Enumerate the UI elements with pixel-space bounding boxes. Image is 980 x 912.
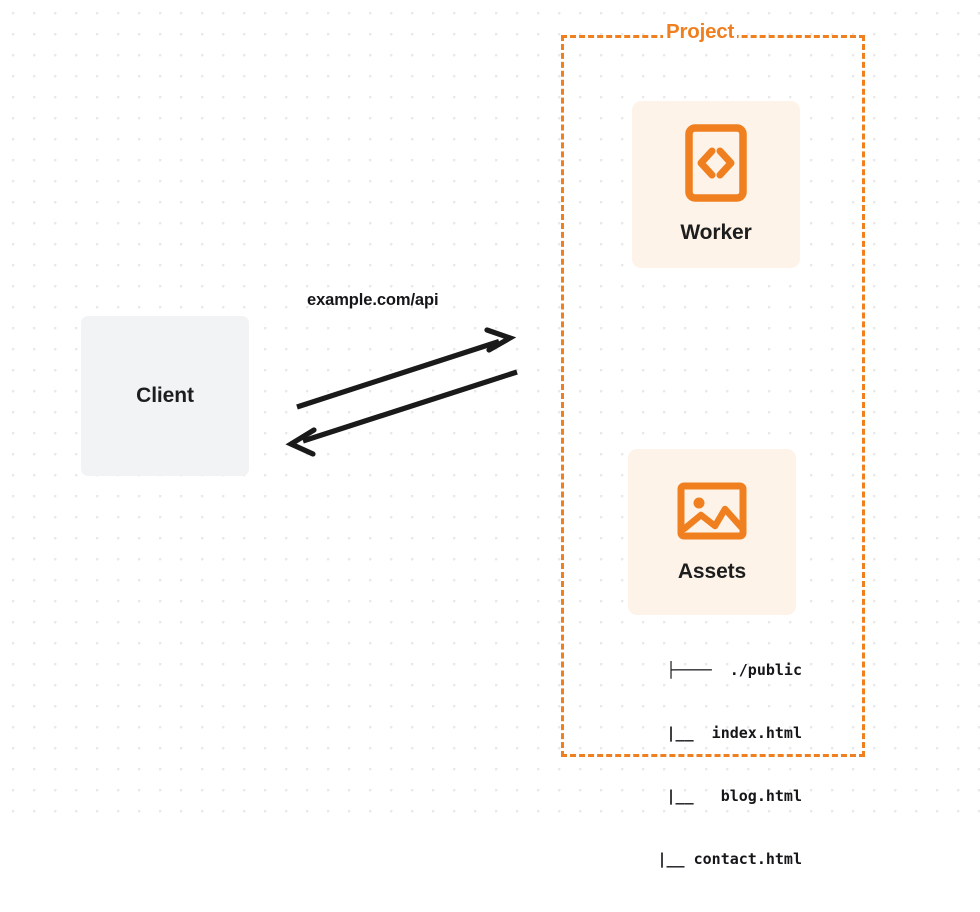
request-arrow: [297, 330, 510, 407]
file-tree-row: |__ blog.html: [608, 786, 802, 807]
request-url-label: example.com/api: [307, 291, 438, 310]
asset-file-tree: ├──── ./public |__ index.html |__ blog.h…: [608, 618, 802, 912]
assets-label: Assets: [678, 560, 746, 584]
assets-card[interactable]: Assets: [628, 449, 796, 615]
file-tree-row: ├──── ./public: [608, 660, 802, 681]
diagram-canvas: Client example.com/api Project Worker: [0, 0, 980, 818]
client-node[interactable]: Client: [81, 316, 249, 476]
code-brackets-icon: [685, 124, 747, 207]
worker-label: Worker: [680, 221, 751, 245]
response-arrow: [291, 372, 517, 454]
file-tree-row: |__ index.html: [608, 723, 802, 744]
file-tree-row: |__ contact.html: [608, 849, 802, 870]
client-label: Client: [136, 384, 194, 408]
worker-card[interactable]: Worker: [632, 101, 800, 268]
project-title: Project: [663, 21, 737, 44]
image-icon: [677, 481, 747, 546]
